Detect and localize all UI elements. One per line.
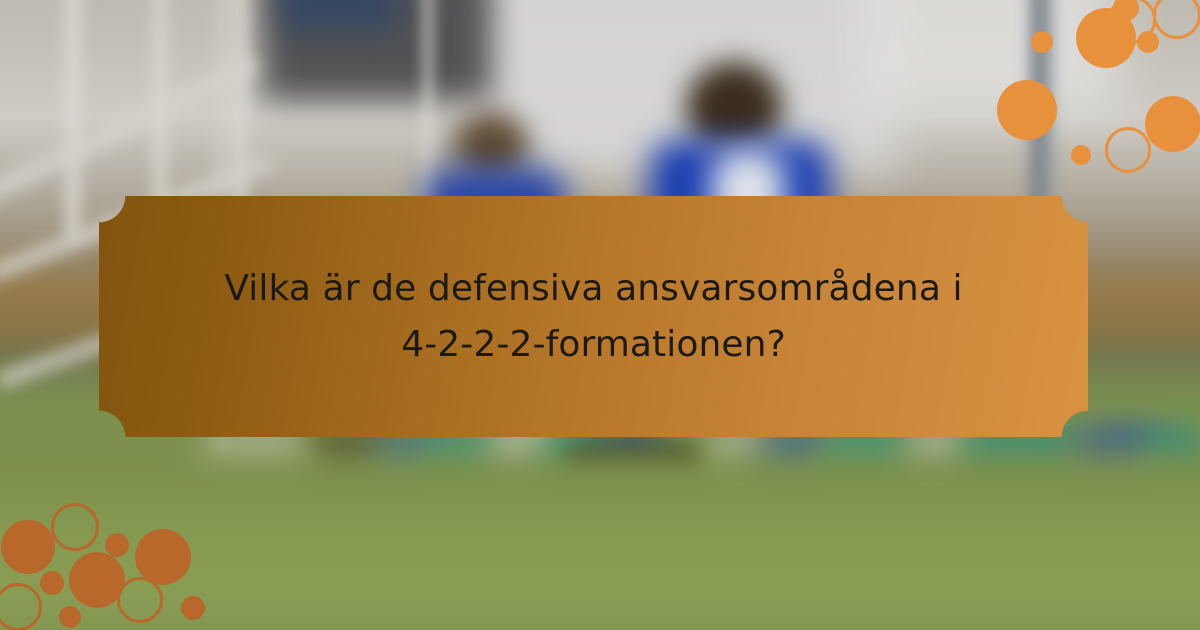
screenshot-stage: Vilka är de defensiva ansvarsområdena i …	[0, 0, 1200, 630]
headline-card: Vilka är de defensiva ansvarsområdena i …	[99, 196, 1088, 437]
background-grass	[0, 420, 1200, 630]
background-blue-patch	[278, 0, 398, 30]
background-fence-post	[60, 0, 86, 240]
page-title: Vilka är de defensiva ansvarsområdena i …	[204, 261, 984, 373]
background-wall-light-secondary	[860, 0, 1120, 110]
headline-card-content: Vilka är de defensiva ansvarsområdena i …	[99, 196, 1088, 437]
